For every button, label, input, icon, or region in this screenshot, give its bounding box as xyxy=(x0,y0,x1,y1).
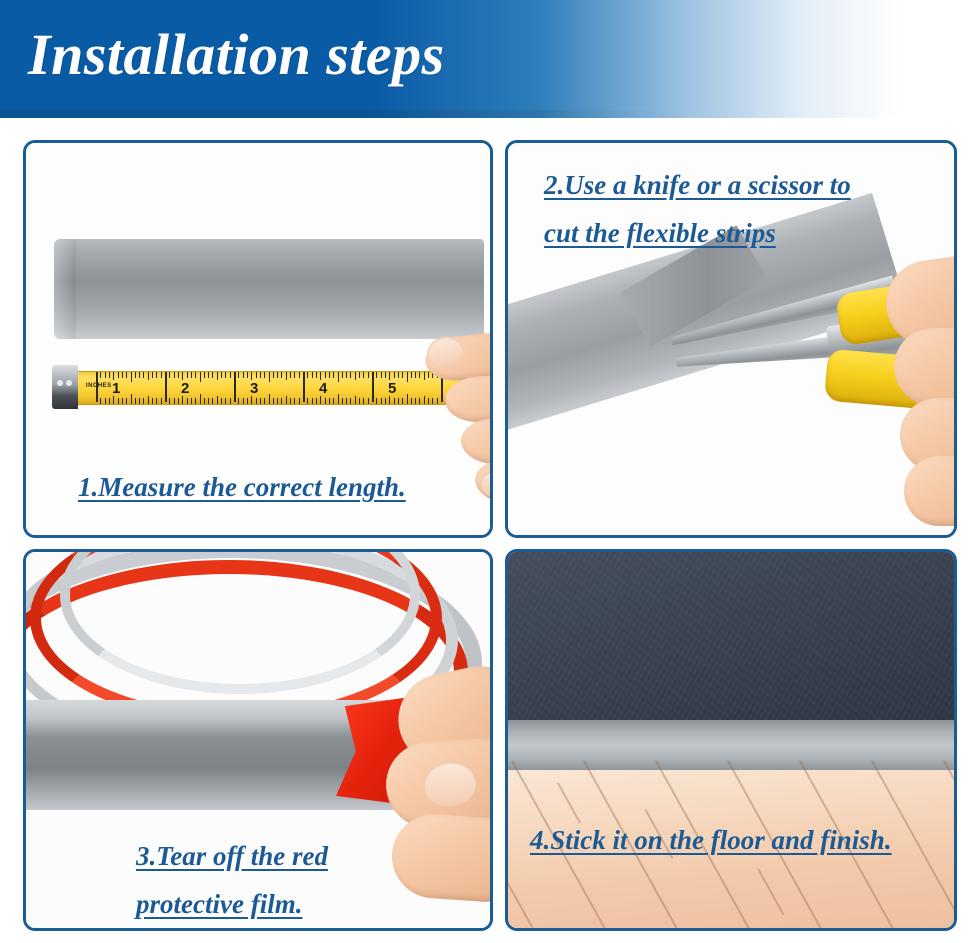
step-3-caption-line-1: 3.Tear off the red xyxy=(136,834,328,878)
ruler-tick xyxy=(411,372,412,378)
ruler-tick xyxy=(105,398,106,404)
ruler-tick xyxy=(225,372,226,378)
ruler-tick xyxy=(212,398,213,404)
ruler-tick xyxy=(359,372,360,378)
ruler-tick xyxy=(394,372,395,378)
ruler-tick xyxy=(281,372,282,378)
ruler-inch-number: 4 xyxy=(319,380,327,397)
ruler-tick xyxy=(281,398,282,404)
ruler-tick xyxy=(381,398,382,404)
ruler-tick xyxy=(385,372,386,378)
step-2-caption-line-1: 2.Use a knife or a scissor to xyxy=(544,163,851,207)
ruler-tick xyxy=(187,398,188,404)
infographic-page: Installation steps INCHES 12345 1.M xyxy=(0,0,980,943)
ruler-tick xyxy=(368,372,369,378)
ruler-tick xyxy=(342,398,343,404)
ruler-tick xyxy=(342,372,343,378)
ruler-tick xyxy=(325,372,326,378)
ruler-tick xyxy=(200,394,201,404)
page-title: Installation steps xyxy=(28,20,445,90)
ruler-tick xyxy=(273,398,274,404)
ruler-tick xyxy=(247,398,248,404)
ruler-tick xyxy=(174,398,175,404)
sleeve-cuff xyxy=(491,495,493,538)
ruler-tick xyxy=(204,372,205,378)
ruler-tick xyxy=(368,398,369,404)
ruler-tick xyxy=(329,372,330,378)
step-panel-3: 3.Tear off the red protective film. xyxy=(23,549,493,931)
hand-holding-scissors-image xyxy=(808,258,957,518)
ruler-tick xyxy=(100,372,101,378)
ruler-tick xyxy=(169,398,170,404)
step-4-photo xyxy=(508,552,954,928)
ruler-tick xyxy=(200,372,201,382)
ruler-tick xyxy=(143,372,144,378)
ruler-tick xyxy=(217,396,218,404)
ruler-tick xyxy=(277,398,278,404)
ruler-tick xyxy=(131,372,132,382)
ruler-tick xyxy=(105,372,106,378)
ruler-tick xyxy=(230,372,231,378)
hand-holding-tape-image xyxy=(421,331,493,538)
ruler-tick xyxy=(338,394,339,404)
ruler-tick xyxy=(118,372,119,378)
ruler-tick xyxy=(398,398,399,404)
ruler-tick xyxy=(307,372,308,378)
ruler-tick xyxy=(131,394,132,404)
ruler-tick xyxy=(118,398,119,404)
ruler-tick xyxy=(182,396,183,404)
ruler-tick xyxy=(126,372,127,378)
ruler-tick xyxy=(402,398,403,404)
ruler-tick xyxy=(312,372,313,378)
ruler-tick xyxy=(161,372,162,378)
ruler-tick xyxy=(273,372,274,378)
ruler-tick xyxy=(359,398,360,404)
ruler-tick xyxy=(139,398,140,404)
ruler-tick xyxy=(148,372,149,380)
ruler-tick xyxy=(221,398,222,404)
ruler-inch-number: 1 xyxy=(112,380,120,397)
dark-wall xyxy=(508,552,954,724)
step-panel-1: INCHES 12345 1.Measure the correct lengt… xyxy=(23,140,493,538)
ruler-tick xyxy=(407,394,408,404)
ruler-tick xyxy=(290,372,291,378)
index-finger xyxy=(894,328,957,406)
ring-finger xyxy=(460,417,493,467)
ruler-tick xyxy=(126,398,127,404)
ruler-inch-number: 3 xyxy=(250,380,258,397)
grey-strip-roll-image xyxy=(54,239,484,339)
ruler-tick xyxy=(316,372,317,378)
ruler-tick xyxy=(109,372,110,378)
ruler-tick xyxy=(247,372,248,378)
ruler-tick xyxy=(195,398,196,404)
ruler-tick xyxy=(286,372,287,380)
ruler-tick xyxy=(195,372,196,378)
ruler-tick xyxy=(286,396,287,404)
ruler-tick xyxy=(303,372,305,402)
ruler-tick xyxy=(143,398,144,404)
ruler-tick xyxy=(191,372,192,378)
step-1-caption: 1.Measure the correct length. xyxy=(78,465,406,509)
ruler-tick xyxy=(156,372,157,378)
ruler-tick xyxy=(152,398,153,404)
ruler-tick xyxy=(256,398,257,404)
ruler-tick xyxy=(329,398,330,404)
ruler-tick xyxy=(355,372,356,380)
ruler-tick xyxy=(152,372,153,378)
ruler-tick xyxy=(316,398,317,404)
tape-measure-blade: INCHES 12345 xyxy=(74,371,464,405)
ruler-tick xyxy=(411,398,412,404)
ruler-tick xyxy=(243,372,244,378)
ruler-tick xyxy=(338,372,339,382)
ruler-tick xyxy=(294,372,295,378)
ruler-tick xyxy=(191,398,192,404)
ruler-tick xyxy=(407,372,408,382)
ruler-tick xyxy=(312,398,313,404)
ruler-tick xyxy=(122,372,123,378)
step-panel-2: 2.Use a knife or a scissor to cut the fl… xyxy=(505,140,957,538)
ruler-tick xyxy=(333,372,334,378)
ruler-tick xyxy=(96,372,98,402)
ruler-tick xyxy=(135,372,136,378)
ruler-tick xyxy=(350,372,351,378)
ruler-tick xyxy=(238,398,239,404)
ruler-tick xyxy=(225,398,226,404)
step-4-caption: 4.Stick it on the floor and finish. xyxy=(530,818,892,862)
ruler-tick xyxy=(350,398,351,404)
ruler-tick xyxy=(243,398,244,404)
ruler-tick xyxy=(260,398,261,404)
ruler-tick xyxy=(398,372,399,378)
ruler-inch-number: 5 xyxy=(388,380,396,397)
step-3-caption-line-2: protective film. xyxy=(136,882,302,926)
ruler-tick xyxy=(394,398,395,404)
ruler-tick xyxy=(238,372,239,378)
ruler-tick xyxy=(139,372,140,378)
ruler-tick xyxy=(109,398,110,404)
ruler-tick xyxy=(251,396,252,404)
ruler-tick xyxy=(187,372,188,378)
tape-measure-hook-icon xyxy=(52,365,78,409)
ruler-tick xyxy=(100,398,101,404)
ruler-tick xyxy=(385,398,386,404)
ruler-tick xyxy=(264,372,265,378)
floor-plank-seam xyxy=(758,869,785,915)
header-underline xyxy=(0,110,980,118)
ruler-tick xyxy=(204,398,205,404)
ruler-tick xyxy=(372,372,374,402)
ruler-tick xyxy=(325,398,326,404)
ruler-tick xyxy=(333,398,334,404)
ruler-tick xyxy=(148,396,149,404)
ruler-tick xyxy=(415,372,416,378)
ruler-tick xyxy=(320,396,321,404)
ruler-tick xyxy=(320,372,321,380)
ruler-tick xyxy=(217,372,218,380)
ruler-tick xyxy=(389,396,390,404)
ruler-tick xyxy=(161,398,162,404)
ruler-tick xyxy=(212,372,213,378)
ruler-tick xyxy=(277,372,278,378)
hand-peeling-film-image xyxy=(378,670,493,920)
step-2-caption-line-2: cut the flexible strips xyxy=(544,211,776,255)
ruler-tick xyxy=(294,398,295,404)
ruler-tick xyxy=(178,372,179,378)
ruler-tick xyxy=(264,398,265,404)
ruler-tick xyxy=(381,372,382,378)
ruler-tick xyxy=(113,372,114,380)
ruler-tick xyxy=(376,398,377,404)
ruler-tick xyxy=(389,372,390,380)
ruler-tick xyxy=(113,396,114,404)
ruler-tick xyxy=(299,372,300,378)
ruler-tick xyxy=(135,398,136,404)
ruler-tick xyxy=(174,372,175,378)
ruler-tick xyxy=(307,398,308,404)
step-panel-4: 4.Stick it on the floor and finish. xyxy=(505,549,957,931)
ruler-tick xyxy=(402,372,403,378)
ruler-tick xyxy=(363,372,364,378)
ruler-tick xyxy=(376,372,377,378)
ruler-tick xyxy=(290,398,291,404)
ruler-tick xyxy=(251,372,252,380)
ruler-tick xyxy=(299,398,300,404)
ruler-inch-number: 2 xyxy=(181,380,189,397)
ruler-tick xyxy=(355,396,356,404)
ruler-tick xyxy=(182,372,183,380)
ruler-unit-label: INCHES xyxy=(86,383,112,389)
ruler-tick xyxy=(122,398,123,404)
ruler-tick xyxy=(156,398,157,404)
ring-finger xyxy=(904,456,957,526)
ruler-tick xyxy=(169,372,170,378)
ruler-tick xyxy=(165,372,167,402)
ruler-tick xyxy=(346,398,347,404)
ruler-tick xyxy=(269,372,270,382)
ruler-tick xyxy=(208,372,209,378)
ruler-tick xyxy=(363,398,364,404)
ruler-tick xyxy=(269,394,270,404)
ruler-tick xyxy=(346,372,347,378)
ruler-tick xyxy=(256,372,257,378)
ruler-tick xyxy=(234,372,236,402)
ruler-tick xyxy=(208,398,209,404)
ruler-tick xyxy=(221,372,222,378)
ruler-tick xyxy=(260,372,261,378)
page-header: Installation steps xyxy=(0,0,980,118)
ruler-tick xyxy=(415,398,416,404)
middle-finger xyxy=(389,811,493,904)
ruler-tick xyxy=(230,398,231,404)
ruler-tick xyxy=(178,398,179,404)
